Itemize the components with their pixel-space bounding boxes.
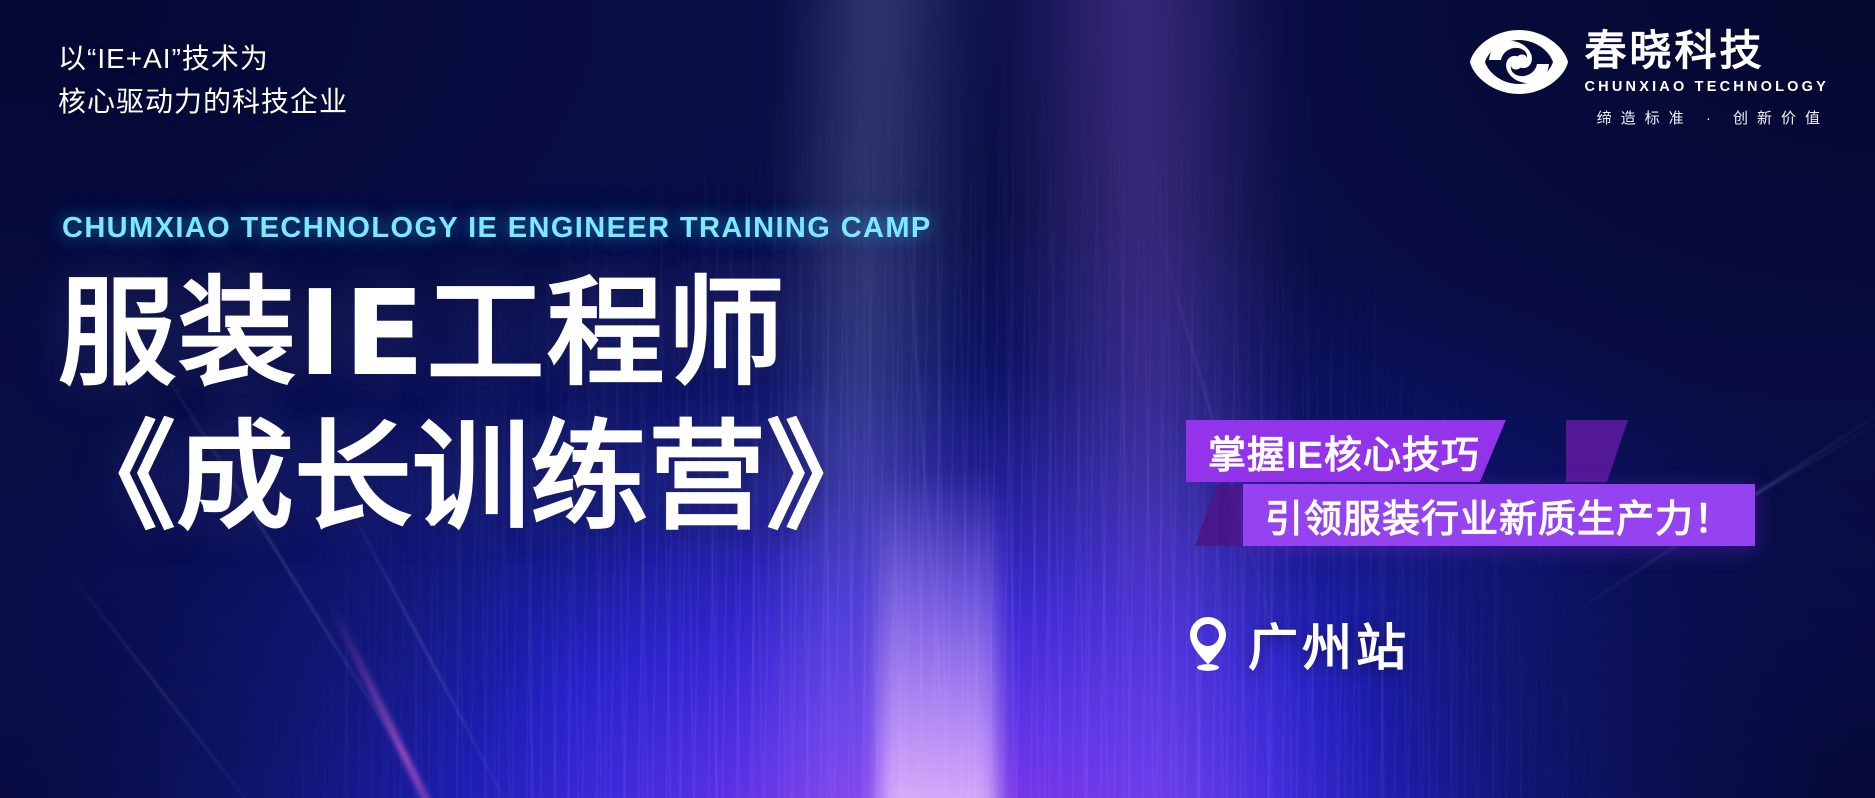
event-location-label: 广州站 xyxy=(1248,608,1410,680)
badge-ie-core-skills: 掌握IE核心技巧 xyxy=(1186,420,1506,482)
logo-name-cn: 春晓科技 xyxy=(1585,30,1765,72)
badge-1-shadow xyxy=(1566,420,1628,482)
map-pin-icon xyxy=(1188,616,1228,672)
chunxiao-eye-logo-icon xyxy=(1467,26,1571,98)
brand-logo: 春晓科技 CHUNXIAO TECHNOLOGY 缔造标准 · 创新价值 xyxy=(1467,26,1829,126)
company-tagline-line-2: 核心驱动力的科技企业 xyxy=(58,81,348,124)
logo-primary-row: 春晓科技 CHUNXIAO TECHNOLOGY xyxy=(1467,26,1829,98)
logo-slogan: 缔造标准 · 创新价值 xyxy=(1597,111,1829,126)
title-line-2: 《成长训练营》 xyxy=(58,406,884,550)
promo-banner: 以“IE+AI”技术为 核心驱动力的科技企业 春晓科技 CHUNXIAO TEC… xyxy=(0,0,1875,798)
logo-wordmark: 春晓科技 CHUNXIAO TECHNOLOGY xyxy=(1585,30,1829,95)
page-title: 服装IE工程师 《成长训练营》 xyxy=(58,262,884,550)
company-tagline-line-1: 以“IE+AI”技术为 xyxy=(58,38,348,81)
badge-new-productivity: 引领服装行业新质生产力！ xyxy=(1243,484,1755,546)
company-tagline: 以“IE+AI”技术为 核心驱动力的科技企业 xyxy=(58,38,348,123)
event-location: 广州站 xyxy=(1188,608,1410,680)
badge-2-shadow xyxy=(1195,484,1247,546)
title-line-1: 服装IE工程师 xyxy=(58,262,884,406)
banner-content: 以“IE+AI”技术为 核心驱动力的科技企业 春晓科技 CHUNXIAO TEC… xyxy=(0,0,1875,798)
english-kicker: CHUMXIAO TECHNOLOGY IE ENGINEER TRAINING… xyxy=(62,212,932,245)
logo-name-en: CHUNXIAO TECHNOLOGY xyxy=(1585,80,1829,95)
